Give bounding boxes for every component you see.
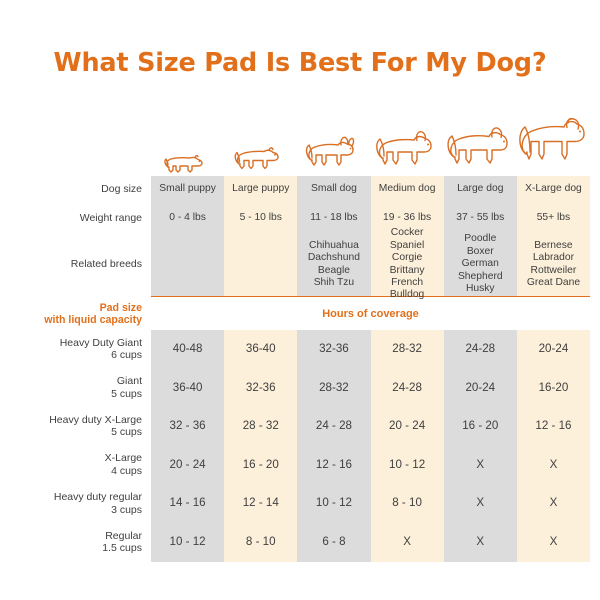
cell-hours-r0-c1: 36-40 bbox=[224, 330, 297, 369]
cell-hours-r4-c5: X bbox=[517, 484, 590, 523]
cell-hours-r1-c3: 24-28 bbox=[371, 369, 444, 408]
cell-hours-r0-c0: 40-48 bbox=[151, 330, 224, 369]
cell-hours-r5-c5: X bbox=[517, 523, 590, 562]
dog-silhouette-small-puppy bbox=[151, 118, 224, 176]
cell-weight-0: 0 - 4 lbs bbox=[151, 203, 224, 233]
cell-hours-r0-c3: 28-32 bbox=[371, 330, 444, 369]
pad-row-name: X-Large bbox=[105, 452, 142, 465]
row-label-pad-size: Pad size with liquid capacity bbox=[10, 297, 151, 330]
cell-hours-r2-c2: 24 - 28 bbox=[297, 407, 370, 446]
cell-hours-r3-c0: 20 - 24 bbox=[151, 446, 224, 485]
cell-hours-r1-c0: 36-40 bbox=[151, 369, 224, 408]
cell-breeds-0 bbox=[186, 263, 190, 267]
row-weight-range: Weight range 0 - 4 lbs 5 - 10 lbs 11 - 1… bbox=[10, 203, 590, 233]
cell-hours-r2-c0: 32 - 36 bbox=[151, 407, 224, 446]
cell-hours-r5-c0: 10 - 12 bbox=[151, 523, 224, 562]
table-row: Heavy Duty Giant6 cups40-4836-4032-3628-… bbox=[10, 330, 590, 369]
cell-dog-size-5: X-Large dog bbox=[517, 176, 590, 203]
cell-dog-size-0: Small puppy bbox=[151, 176, 224, 203]
cell-hours-r3-c1: 16 - 20 bbox=[224, 446, 297, 485]
cell-hours-r3-c2: 12 - 16 bbox=[297, 446, 370, 485]
pad-row-label: X-Large4 cups bbox=[10, 446, 151, 485]
cell-weight-1: 5 - 10 lbs bbox=[224, 203, 297, 233]
cell-dog-size-2: Small dog bbox=[297, 176, 370, 203]
cell-hours-r1-c5: 16-20 bbox=[517, 369, 590, 408]
cell-hours-r4-c0: 14 - 16 bbox=[151, 484, 224, 523]
table-row: Giant5 cups36-4032-3628-3224-2820-2416-2… bbox=[10, 369, 590, 408]
dog-silhouette-xlarge-dog bbox=[516, 118, 590, 176]
cell-hours-r1-c2: 28-32 bbox=[297, 369, 370, 408]
pad-row-label: Heavy Duty Giant6 cups bbox=[10, 330, 151, 369]
table-row: X-Large4 cups20 - 2416 - 2012 - 1610 - 1… bbox=[10, 446, 590, 485]
table-row: Heavy duty regular3 cups14 - 1612 - 1410… bbox=[10, 484, 590, 523]
cell-hours-r1-c1: 32-36 bbox=[224, 369, 297, 408]
cell-hours-r0-c4: 24-28 bbox=[444, 330, 517, 369]
cell-hours-r3-c5: X bbox=[517, 446, 590, 485]
row-label-related-breeds: Related breeds bbox=[10, 233, 151, 296]
cell-weight-4: 37 - 55 lbs bbox=[444, 203, 517, 233]
pad-row-capacity: 5 cups bbox=[111, 426, 142, 439]
pad-size-rows: Heavy Duty Giant6 cups40-4836-4032-3628-… bbox=[10, 330, 590, 562]
row-label-dog-size: Dog size bbox=[10, 176, 151, 203]
row-hours-of-coverage: Pad size with liquid capacity Hours of c… bbox=[10, 297, 590, 330]
pad-row-label: Giant5 cups bbox=[10, 369, 151, 408]
pad-row-label: Heavy duty X-Large5 cups bbox=[10, 407, 151, 446]
cell-hours-r4-c4: X bbox=[444, 484, 517, 523]
pad-row-capacity: 6 cups bbox=[111, 349, 142, 362]
table-row: Regular1.5 cups10 - 128 - 106 - 8XXX bbox=[10, 523, 590, 562]
pad-row-name: Heavy Duty Giant bbox=[60, 337, 142, 350]
cell-breeds-1 bbox=[259, 263, 263, 267]
cell-dog-size-1: Large puppy bbox=[224, 176, 297, 203]
cell-weight-2: 11 - 18 lbs bbox=[297, 203, 370, 233]
dog-silhouette-medium-dog bbox=[370, 118, 443, 176]
cell-breeds-5: BerneseLabradorRottweilerGreat Dane bbox=[525, 238, 582, 292]
pad-size-line2: with liquid capacity bbox=[44, 314, 142, 326]
page-title: What Size Pad Is Best For My Dog? bbox=[0, 48, 600, 78]
cell-hours-r3-c4: X bbox=[444, 446, 517, 485]
cell-dog-size-3: Medium dog bbox=[371, 176, 444, 203]
cell-breeds-4: PoodleBoxerGermanShepherdHusky bbox=[456, 231, 505, 297]
pad-size-line1: Pad size bbox=[100, 302, 142, 314]
pad-row-capacity: 3 cups bbox=[111, 504, 142, 517]
cell-hours-r2-c1: 28 - 32 bbox=[224, 407, 297, 446]
infographic-page: What Size Pad Is Best For My Dog? bbox=[0, 0, 600, 600]
cell-hours-r4-c2: 10 - 12 bbox=[297, 484, 370, 523]
cell-weight-5: 55+ lbs bbox=[517, 203, 590, 233]
cell-hours-r5-c2: 6 - 8 bbox=[297, 523, 370, 562]
pad-row-name: Regular bbox=[105, 530, 142, 543]
row-dog-size: Dog size Small puppy Large puppy Small d… bbox=[10, 176, 590, 203]
dog-silhouette-large-puppy bbox=[224, 118, 297, 176]
cell-hours-r4-c1: 12 - 14 bbox=[224, 484, 297, 523]
size-chart-table: Dog size Small puppy Large puppy Small d… bbox=[10, 118, 590, 562]
cell-hours-r0-c5: 20-24 bbox=[517, 330, 590, 369]
row-related-breeds: Related breeds ChihuahuaDachshundBeagleS… bbox=[10, 233, 590, 296]
pad-row-capacity: 4 cups bbox=[111, 465, 142, 478]
pad-row-capacity: 1.5 cups bbox=[102, 542, 142, 555]
cell-dog-size-4: Large dog bbox=[444, 176, 517, 203]
dog-silhouette-small-dog bbox=[297, 118, 370, 176]
pad-row-capacity: 5 cups bbox=[111, 388, 142, 401]
cell-hours-r4-c3: 8 - 10 bbox=[371, 484, 444, 523]
pad-row-name: Heavy duty X-Large bbox=[49, 414, 142, 427]
dog-silhouette-row bbox=[10, 118, 590, 176]
cell-breeds-3: Cocker SpanielCorgieBrittanyFrench Bulld… bbox=[371, 225, 444, 303]
cell-hours-r2-c5: 12 - 16 bbox=[517, 407, 590, 446]
pad-row-name: Giant bbox=[117, 375, 142, 388]
cell-hours-r1-c4: 20-24 bbox=[444, 369, 517, 408]
cell-hours-r5-c4: X bbox=[444, 523, 517, 562]
cell-hours-r5-c1: 8 - 10 bbox=[224, 523, 297, 562]
cell-hours-r2-c4: 16 - 20 bbox=[444, 407, 517, 446]
pad-row-name: Heavy duty regular bbox=[54, 491, 142, 504]
cell-hours-r0-c2: 32-36 bbox=[297, 330, 370, 369]
cell-hours-r5-c3: X bbox=[371, 523, 444, 562]
row-label-weight-range: Weight range bbox=[10, 203, 151, 233]
pad-row-label: Regular1.5 cups bbox=[10, 523, 151, 562]
cell-hours-r2-c3: 20 - 24 bbox=[371, 407, 444, 446]
pad-row-label: Heavy duty regular3 cups bbox=[10, 484, 151, 523]
dog-silhouette-row-spacer bbox=[10, 118, 151, 176]
hours-of-coverage-title: Hours of coverage bbox=[151, 297, 590, 330]
cell-breeds-2: ChihuahuaDachshundBeagleShih Tzu bbox=[306, 238, 362, 292]
cell-hours-r3-c3: 10 - 12 bbox=[371, 446, 444, 485]
dog-silhouette-large-dog bbox=[443, 118, 516, 176]
table-row: Heavy duty X-Large5 cups32 - 3628 - 3224… bbox=[10, 407, 590, 446]
